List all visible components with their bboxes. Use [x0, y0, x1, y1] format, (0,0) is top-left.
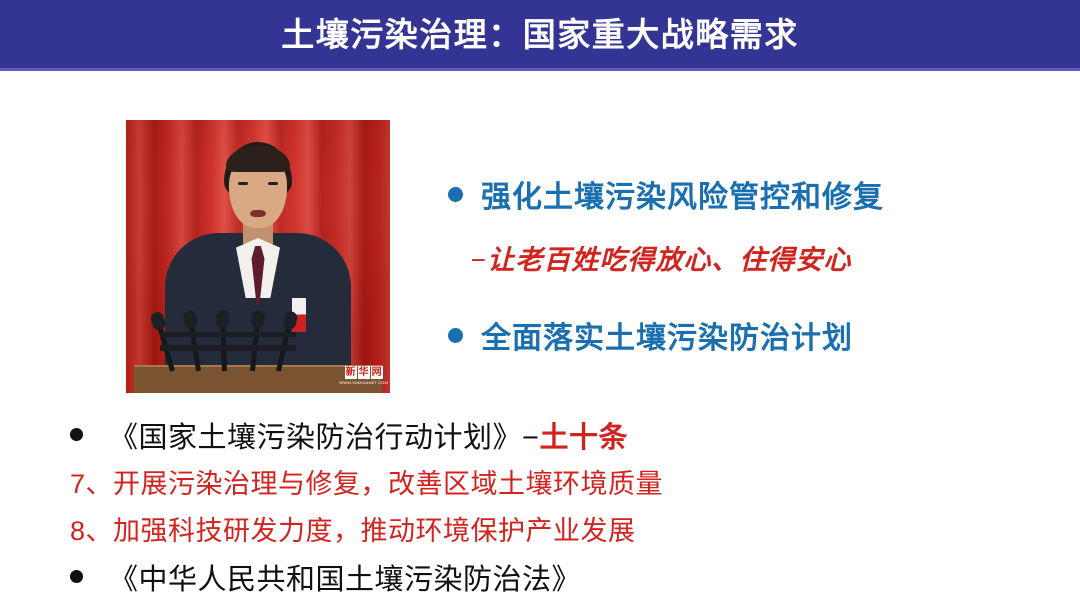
- policy-plan-nickname: 土十条: [539, 422, 628, 454]
- bullet-dot-icon: [70, 428, 83, 441]
- policy-plan-line: 《国家土壤污染防治行动计划》−土十条: [109, 414, 628, 456]
- policy-item-7: 7、开展污染治理与修复，改善区域土壤环境质量: [70, 462, 1030, 501]
- policy-row-plan: 《国家土壤污染防治行动计划》−土十条: [70, 414, 1030, 456]
- speaker-eye-left: [238, 182, 248, 185]
- bullet-row-2: 全面落实土壤污染防治计划: [448, 313, 1048, 357]
- slide-root: 土壤污染治理：国家重大战略需求 新 华 网 WWW.XINHUANET.CO: [0, 0, 1080, 607]
- leader-speech-photo: 新 华 网 WWW.XINHUANET.COM: [126, 120, 390, 393]
- microphone-mount-bar: [160, 332, 296, 337]
- bullet-row-1: 强化土壤污染风险管控和修复: [448, 172, 1048, 216]
- bottom-text-block: 《国家土壤污染防治行动计划》−土十条 7、开展污染治理与修复，改善区域土壤环境质…: [70, 414, 1030, 604]
- speaker-eye-right: [268, 182, 278, 185]
- page-title: 土壤污染治理：国家重大战略需求: [281, 18, 799, 51]
- banner-underline: [0, 68, 1080, 71]
- bullet-dot-icon: [448, 187, 463, 202]
- xinhua-watermark: 新 华 网 WWW.XINHUANET.COM: [339, 366, 388, 385]
- watermark-char: 网: [371, 366, 383, 379]
- bullet-2-text: 全面落实土壤污染防治计划: [481, 313, 853, 357]
- bullet-1-subtext: −让老百姓吃得放心、住得安心: [470, 238, 1048, 277]
- bullet-dot-icon: [448, 328, 463, 343]
- policy-law-title: 《中华人民共和国土壤污染防治法》: [109, 556, 581, 598]
- policy-plan-dash: −: [522, 422, 539, 454]
- microphone-mount-bar: [160, 345, 296, 351]
- watermark-url: WWW.XINHUANET.COM: [339, 380, 388, 385]
- speaker-mouth: [250, 210, 266, 217]
- policy-item-8: 8、加强科技研发力度，推动环境保护产业发展: [70, 509, 1030, 548]
- watermark-char: 新: [345, 366, 357, 379]
- right-bullet-list: 强化土壤污染风险管控和修复 −让老百姓吃得放心、住得安心 全面落实土壤污染防治计…: [448, 172, 1048, 357]
- bullet-1-text: 强化土壤污染风险管控和修复: [481, 172, 884, 216]
- bullet-dot-icon: [70, 570, 83, 583]
- policy-plan-title: 《国家土壤污染防治行动计划》: [109, 422, 522, 454]
- title-banner: 土壤污染治理：国家重大战略需求: [0, 0, 1080, 68]
- policy-row-law: 《中华人民共和国土壤污染防治法》: [70, 556, 1030, 598]
- watermark-char: 华: [358, 366, 370, 379]
